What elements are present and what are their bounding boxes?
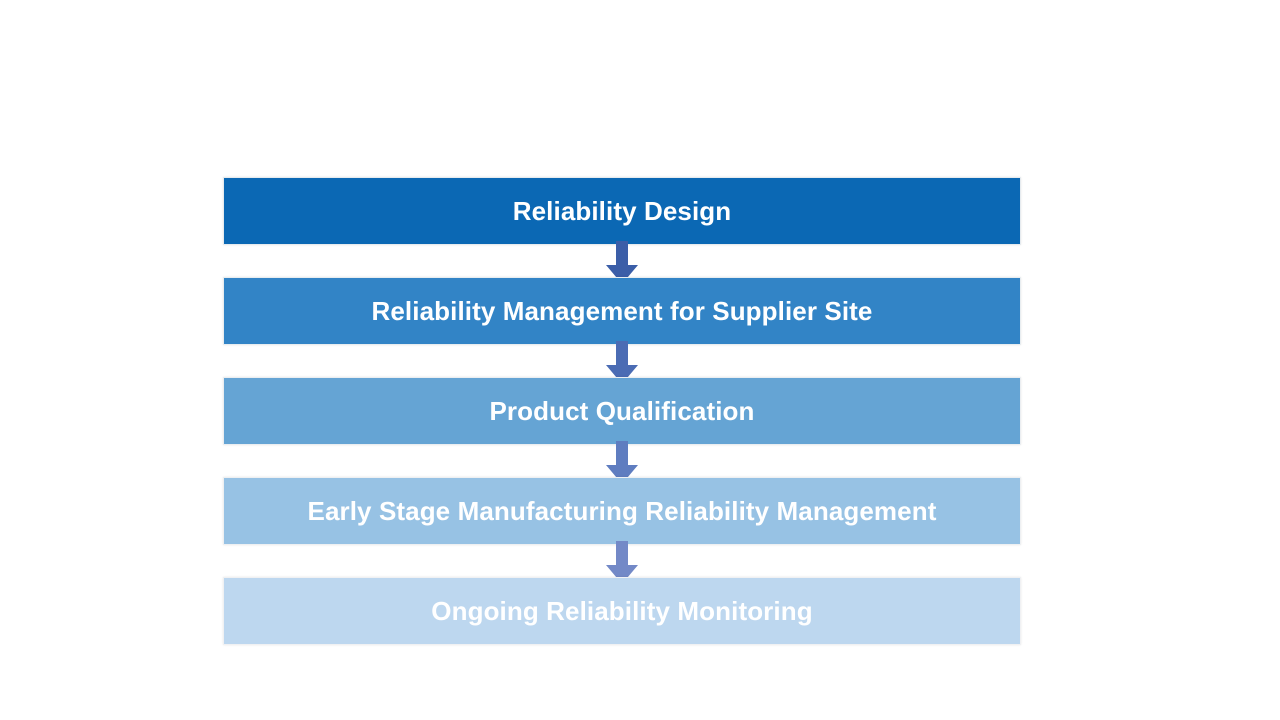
- flow-diagram-canvas: Reliability Design Reliability Managemen…: [0, 0, 1280, 720]
- flow-step-label: Ongoing Reliability Monitoring: [431, 598, 812, 624]
- flow-step-reliability-design[interactable]: Reliability Design: [223, 177, 1021, 245]
- flow-connector-1: [223, 245, 1021, 277]
- flow-connector-2: [223, 345, 1021, 377]
- flow-step-label: Reliability Design: [513, 198, 732, 224]
- flow-step-stack: Reliability Design Reliability Managemen…: [223, 177, 1021, 645]
- flow-connector-3: [223, 445, 1021, 477]
- flow-step-product-qualification[interactable]: Product Qualification: [223, 377, 1021, 445]
- flow-step-label: Reliability Management for Supplier Site: [372, 298, 873, 324]
- flow-step-label: Early Stage Manufacturing Reliability Ma…: [308, 498, 937, 524]
- flow-step-label: Product Qualification: [489, 398, 754, 424]
- flow-step-reliability-management-supplier-site[interactable]: Reliability Management for Supplier Site: [223, 277, 1021, 345]
- flow-step-early-stage-manufacturing-reliability-management[interactable]: Early Stage Manufacturing Reliability Ma…: [223, 477, 1021, 545]
- flow-connector-4: [223, 545, 1021, 577]
- flow-step-ongoing-reliability-monitoring[interactable]: Ongoing Reliability Monitoring: [223, 577, 1021, 645]
